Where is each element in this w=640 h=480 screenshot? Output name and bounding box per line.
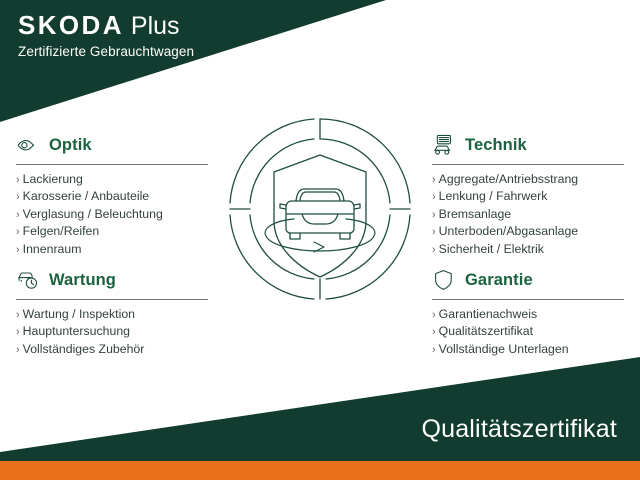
list-item-label: Felgen/Reifen (23, 223, 100, 239)
section-header: Wartung (16, 266, 216, 294)
list-item: ›Vollständiges Zubehör (16, 341, 216, 358)
column-right-technik: Technik ›Aggregate/Antriebsstrang ›Lenku… (432, 131, 632, 258)
column-left-optik: Optik ›Lackierung ›Karosserie / Anbautei… (16, 131, 216, 258)
section-header: Technik (432, 131, 632, 159)
section-item-list: ›Wartung / Inspektion ›Hauptuntersuchung… (16, 306, 216, 358)
chevron-right-icon: › (16, 224, 20, 240)
car-service-clock-icon (16, 268, 40, 292)
section-divider (432, 164, 624, 165)
chevron-right-icon: › (432, 324, 436, 340)
section-technik: Technik ›Aggregate/Antriebsstrang ›Lenku… (432, 131, 632, 258)
section-divider (16, 299, 208, 300)
section-header: Garantie (432, 266, 632, 294)
brand-title-row: SKODA Plus (18, 12, 194, 39)
car-on-lift-icon (432, 133, 456, 157)
chevron-right-icon: › (432, 189, 436, 205)
list-item-label: Verglasung / Beleuchtung (23, 206, 163, 222)
list-item-label: Wartung / Inspektion (23, 306, 135, 322)
shield-icon (432, 268, 456, 292)
emblem-shield (274, 155, 366, 277)
emblem-outer-ring (230, 119, 410, 299)
list-item-label: Innenraum (23, 241, 82, 257)
brand-suffix: Plus (131, 14, 180, 39)
chevron-right-icon: › (432, 172, 436, 188)
list-item: ›Sicherheit / Elektrik (432, 241, 632, 258)
list-item: ›Garantienachweis (432, 306, 632, 323)
chevron-right-icon: › (16, 207, 20, 223)
list-item-label: Hauptuntersuchung (23, 323, 130, 339)
emblem-inner-ring (250, 139, 390, 279)
brand-header: SKODA Plus Zertifizierte Gebrauchtwagen (18, 12, 194, 59)
list-item-label: Vollständiges Zubehör (23, 341, 145, 357)
chevron-right-icon: › (16, 307, 20, 323)
brand-tagline: Zertifizierte Gebrauchtwagen (18, 45, 194, 59)
list-item: ›Karosserie / Anbauteile (16, 188, 216, 205)
section-optik: Optik ›Lackierung ›Karosserie / Anbautei… (16, 131, 216, 258)
section-title: Technik (465, 136, 527, 155)
emblem-ring-spokes (230, 119, 410, 299)
section-wartung: Wartung ›Wartung / Inspektion ›Hauptunte… (16, 266, 216, 358)
list-item: ›Lenkung / Fahrwerk (432, 188, 632, 205)
orange-footer-bar (0, 461, 640, 480)
certified-vehicle-emblem (228, 117, 412, 301)
section-item-list: ›Lackierung ›Karosserie / Anbauteile ›Ve… (16, 171, 216, 258)
column-left-wartung: Wartung ›Wartung / Inspektion ›Hauptunte… (16, 266, 216, 358)
section-title: Optik (49, 136, 92, 155)
chevron-right-icon: › (432, 342, 436, 358)
list-item: ›Qualitätszertifikat (432, 323, 632, 340)
list-item: ›Lackierung (16, 171, 216, 188)
list-item: ›Wartung / Inspektion (16, 306, 216, 323)
chevron-right-icon: › (16, 324, 20, 340)
list-item-label: Unterboden/Abgasanlage (439, 223, 578, 239)
certificate-page: SKODA Plus Zertifizierte Gebrauchtwagen … (0, 0, 640, 480)
eye-icon (16, 133, 40, 157)
list-item-label: Garantienachweis (439, 306, 537, 322)
list-item-label: Sicherheit / Elektrik (439, 241, 544, 257)
list-item-label: Aggregate/Antriebsstrang (439, 171, 578, 187)
list-item-label: Lenkung / Fahrwerk (439, 188, 548, 204)
section-item-list: ›Aggregate/Antriebsstrang ›Lenkung / Fah… (432, 171, 632, 258)
list-item: ›Unterboden/Abgasanlage (432, 223, 632, 240)
list-item-label: Lackierung (23, 171, 83, 187)
list-item: ›Innenraum (16, 241, 216, 258)
section-header: Optik (16, 131, 216, 159)
chevron-right-icon: › (432, 307, 436, 323)
list-item: ›Verglasung / Beleuchtung (16, 206, 216, 223)
chevron-right-icon: › (432, 242, 436, 258)
chevron-right-icon: › (16, 172, 20, 188)
section-item-list: ›Garantienachweis ›Qualitätszertifikat ›… (432, 306, 632, 358)
list-item-label: Karosserie / Anbauteile (23, 188, 149, 204)
chevron-right-icon: › (16, 342, 20, 358)
chevron-right-icon: › (16, 189, 20, 205)
list-item-label: Vollständige Unterlagen (439, 341, 569, 357)
list-item: ›Bremsanlage (432, 206, 632, 223)
list-item: ›Aggregate/Antriebsstrang (432, 171, 632, 188)
section-title: Wartung (49, 271, 116, 290)
list-item: ›Vollständige Unterlagen (432, 341, 632, 358)
list-item-label: Bremsanlage (439, 206, 511, 222)
section-garantie: Garantie ›Garantienachweis ›Qualitätszer… (432, 266, 632, 358)
section-title: Garantie (465, 271, 533, 290)
section-divider (432, 299, 624, 300)
column-right-garantie: Garantie ›Garantienachweis ›Qualitätszer… (432, 266, 632, 358)
chevron-right-icon: › (432, 207, 436, 223)
emblem-car-front (280, 189, 360, 239)
chevron-right-icon: › (16, 242, 20, 258)
list-item: ›Felgen/Reifen (16, 223, 216, 240)
list-item-label: Qualitätszertifikat (439, 323, 533, 339)
section-divider (16, 164, 208, 165)
brand-name: SKODA (18, 12, 124, 38)
list-item: ›Hauptuntersuchung (16, 323, 216, 340)
chevron-right-icon: › (432, 224, 436, 240)
footer-caption: Qualitätszertifikat (421, 415, 617, 444)
